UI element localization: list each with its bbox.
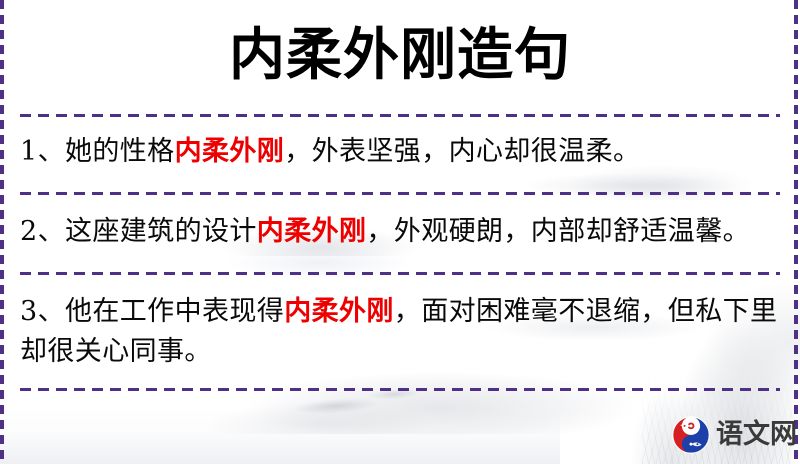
- sentence-2-keyword: 内柔外刚: [257, 216, 367, 247]
- sentence-3-prefix: 他在工作中表现得: [65, 296, 284, 327]
- example-sentence-2: 2、这座建筑的设计内柔外刚，外观硬朗，内部却舒适温馨。: [20, 212, 782, 252]
- separator-line-4: [20, 388, 780, 391]
- ink-wash-lower-band: [0, 408, 560, 464]
- yinyang-fish-logo-icon: [672, 416, 710, 454]
- sentence-1-index: 1、: [20, 136, 65, 167]
- ink-wash-bird: [253, 376, 436, 440]
- site-watermark[interactable]: 语文网: [672, 414, 797, 456]
- example-sentence-3: 3、他在工作中表现得内柔外刚，面对困难毫不退缩，但私下里却很关心同事。: [20, 292, 782, 372]
- page-title: 内柔外刚造句: [0, 20, 800, 90]
- sentence-2-suffix: ，外观硬朗，内部却舒适温馨。: [366, 216, 750, 247]
- sentence-3-keyword: 内柔外刚: [284, 296, 394, 327]
- sentence-1-keyword: 内柔外刚: [175, 136, 285, 167]
- sentence-2-index: 2、: [20, 216, 65, 247]
- example-sentence-1: 1、她的性格内柔外刚，外表坚强，内心却很温柔。: [20, 132, 782, 172]
- watermark-label: 语文网: [716, 420, 797, 450]
- sentence-1-suffix: ，外表坚强，内心却很温柔。: [284, 136, 640, 167]
- separator-line-3: [20, 272, 780, 275]
- sentence-2-prefix: 这座建筑的设计: [65, 216, 257, 247]
- sentence-1-prefix: 她的性格: [65, 136, 175, 167]
- separator-line-1: [20, 114, 780, 117]
- slide-canvas: 内柔外刚造句 1、她的性格内柔外刚，外表坚强，内心却很温柔。 2、这座建筑的设计…: [0, 0, 800, 464]
- separator-line-2: [20, 192, 780, 195]
- sentence-3-index: 3、: [20, 296, 65, 327]
